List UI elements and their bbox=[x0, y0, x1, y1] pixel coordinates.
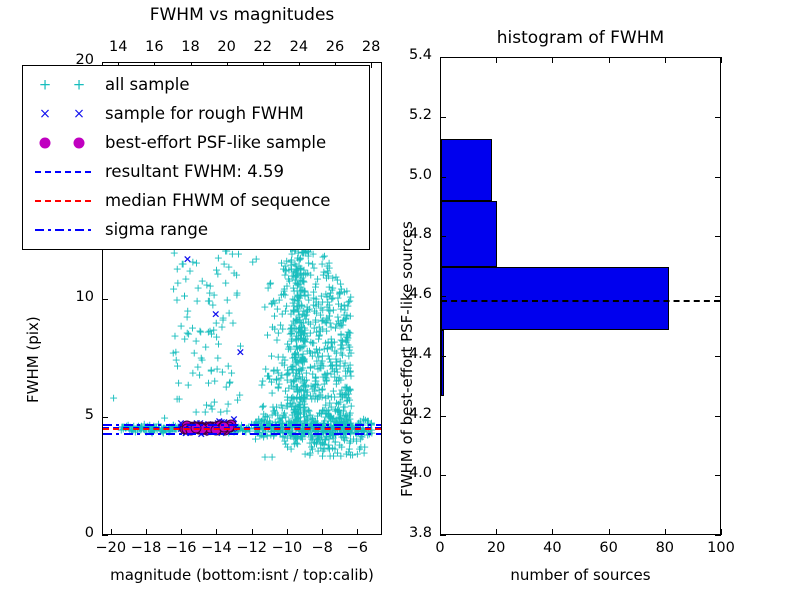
ytick-left bbox=[440, 57, 446, 58]
xtick-bottom bbox=[721, 529, 722, 535]
legend-entry: best-effort PSF-like sample bbox=[23, 128, 369, 157]
legend-marker-dashdot-line bbox=[23, 215, 105, 244]
ytick-left bbox=[440, 177, 446, 178]
right-xaxis-label: number of sources bbox=[410, 566, 751, 584]
yticklabel-left: 5.2 bbox=[378, 107, 432, 123]
reference-line-sigma-lower bbox=[103, 433, 381, 435]
reference-line-resultant-fwhm bbox=[441, 300, 720, 302]
xtick-top bbox=[552, 57, 553, 63]
ytick-left bbox=[440, 416, 446, 417]
xtick-bottom bbox=[287, 529, 288, 535]
ytick-right bbox=[715, 177, 721, 178]
legend-label: resultant FWHM: 4.59 bbox=[105, 162, 284, 181]
legend-box: ++all sample××sample for rough FWHMbest-… bbox=[22, 65, 370, 250]
xticklabel-bottom: 80 bbox=[635, 540, 695, 556]
figure-canvas: FWHM vs magnitudes +++++++++++++++++++++… bbox=[0, 0, 800, 600]
ytick-left bbox=[440, 117, 446, 118]
xtick-bottom bbox=[609, 529, 610, 535]
xtick-bottom bbox=[496, 529, 497, 535]
histogram-bar bbox=[441, 201, 497, 267]
xticklabel-bottom: 0 bbox=[410, 540, 470, 556]
legend-entry: ++all sample bbox=[23, 70, 369, 99]
legend-label: sample for rough FWHM bbox=[105, 104, 304, 123]
dashed-line-icon bbox=[35, 200, 91, 202]
circle-icon bbox=[40, 138, 51, 149]
left-plot-title: FWHM vs magnitudes bbox=[62, 5, 422, 25]
xtick-top bbox=[496, 57, 497, 63]
legend-marker-cross-marker: ×× bbox=[23, 99, 105, 128]
xtick-bottom bbox=[552, 529, 553, 535]
ytick-left bbox=[102, 535, 108, 536]
dashed-line-icon bbox=[35, 171, 91, 173]
xtick-bottom bbox=[181, 529, 182, 535]
xticklabel-bottom: 40 bbox=[522, 540, 582, 556]
histogram-bar bbox=[441, 267, 669, 330]
xtick-bottom bbox=[665, 529, 666, 535]
ytick-right bbox=[715, 57, 721, 58]
xticklabel-bottom: 100 bbox=[691, 540, 751, 556]
ytick-left bbox=[440, 296, 446, 297]
xtick-bottom bbox=[357, 529, 358, 535]
ytick-right bbox=[715, 475, 721, 476]
yticklabel-left: 3.8 bbox=[378, 525, 432, 541]
ytick-left bbox=[440, 356, 446, 357]
xticklabel-bottom: 20 bbox=[466, 540, 526, 556]
ytick-left bbox=[440, 535, 446, 536]
circle-icon bbox=[74, 138, 85, 149]
ytick-right bbox=[715, 535, 721, 536]
xticklabel-bottom: −6 bbox=[327, 540, 387, 556]
xtick-bottom bbox=[322, 529, 323, 535]
ytick-left bbox=[102, 417, 108, 418]
yticklabel-left: 5.4 bbox=[378, 47, 432, 63]
xtick-bottom bbox=[252, 529, 253, 535]
ytick-left bbox=[440, 236, 446, 237]
legend-label: all sample bbox=[105, 75, 190, 94]
legend-entry: sigma range bbox=[23, 215, 369, 244]
histogram-bar bbox=[441, 330, 444, 396]
ytick-right bbox=[715, 236, 721, 237]
ytick-right bbox=[715, 117, 721, 118]
legend-label: best-effort PSF-like sample bbox=[105, 133, 326, 152]
histogram-axes bbox=[440, 57, 721, 535]
ytick-left bbox=[102, 62, 108, 63]
right-plot-title: histogram of FWHM bbox=[400, 28, 761, 48]
ytick-right bbox=[715, 296, 721, 297]
xtick-top bbox=[371, 62, 372, 68]
yticklabel-left: 0 bbox=[42, 525, 94, 541]
dashdot-line-icon bbox=[35, 229, 91, 231]
plus-icon: + bbox=[39, 78, 52, 93]
legend-marker-plus-marker: ++ bbox=[23, 70, 105, 99]
xtick-bottom bbox=[111, 529, 112, 535]
legend-label: sigma range bbox=[105, 220, 208, 239]
xtick-top bbox=[721, 57, 722, 63]
xticklabel-bottom: 60 bbox=[579, 540, 639, 556]
legend-marker-circle-marker bbox=[23, 128, 105, 157]
legend-entry: resultant FWHM: 4.59 bbox=[23, 157, 369, 186]
legend-label: median FHWM of sequence bbox=[105, 191, 330, 210]
yticklabel-left: 5 bbox=[42, 407, 94, 423]
cross-icon: × bbox=[39, 107, 51, 121]
histogram-bars-layer bbox=[441, 58, 720, 534]
reference-line-sigma-upper bbox=[103, 424, 381, 426]
right-yaxis-label: FWHM of best-effort PSF-like sources bbox=[398, 221, 416, 497]
histogram-bar bbox=[441, 139, 492, 202]
yticklabel-left: 10 bbox=[42, 289, 94, 305]
xtick-top bbox=[665, 57, 666, 63]
xtick-bottom bbox=[216, 529, 217, 535]
cross-icon: × bbox=[73, 107, 85, 121]
ytick-right bbox=[715, 416, 721, 417]
legend-marker-dashed-line bbox=[23, 157, 105, 186]
left-yaxis-label: FWHM (pix) bbox=[24, 316, 42, 403]
ytick-left bbox=[440, 475, 446, 476]
left-xaxis-label: magnitude (bottom:isnt / top:calib) bbox=[72, 566, 412, 584]
legend-entry: median FHWM of sequence bbox=[23, 186, 369, 215]
xtick-top bbox=[609, 57, 610, 63]
xtick-bottom bbox=[146, 529, 147, 535]
reference-line-median-fhwm bbox=[103, 428, 381, 430]
yticklabel-left: 5.0 bbox=[378, 167, 432, 183]
legend-entry: ××sample for rough FWHM bbox=[23, 99, 369, 128]
legend-marker-dashed-line bbox=[23, 186, 105, 215]
ytick-right bbox=[715, 356, 721, 357]
plus-icon: + bbox=[73, 78, 86, 93]
ytick-left bbox=[102, 299, 108, 300]
